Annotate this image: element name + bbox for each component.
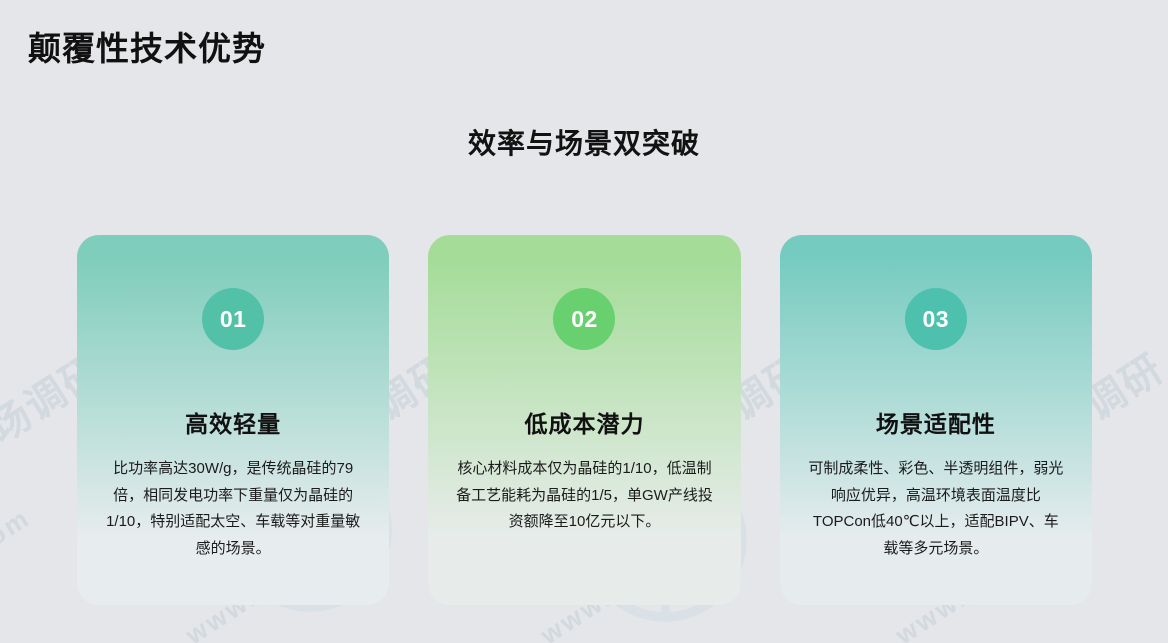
card-title: 低成本潜力: [524, 405, 644, 439]
card-title: 高效轻量: [185, 405, 281, 439]
feature-card[interactable]: 01 高效轻量 比功率高达30W/g，是传统晶硅的79倍，相同发电功率下重量仅为…: [77, 235, 389, 605]
card-description: 核心材料成本仅为晶硅的1/10，低温制备工艺能耗为晶硅的1/5，单GW产线投资额…: [428, 456, 740, 536]
card-number-badge: 02: [553, 288, 615, 350]
card-description: 比功率高达30W/g，是传统晶硅的79倍，相同发电功率下重量仅为晶硅的1/10，…: [77, 456, 389, 563]
watermark-text-url: www.yjbzr.com: [0, 502, 36, 643]
section-subtitle: 效率与场景双突破: [0, 122, 1168, 162]
feature-card[interactable]: 02 低成本潜力 核心材料成本仅为晶硅的1/10，低温制备工艺能耗为晶硅的1/5…: [428, 235, 740, 605]
card-description: 可制成柔性、彩色、半透明组件，弱光响应优异，高温环境表面温度比TOPCon低40…: [780, 456, 1092, 563]
feature-card-list: 01 高效轻量 比功率高达30W/g，是传统晶硅的79倍，相同发电功率下重量仅为…: [77, 235, 1092, 605]
card-title: 场景适配性: [876, 405, 996, 439]
card-number-badge: 01: [202, 288, 264, 350]
feature-card[interactable]: 03 场景适配性 可制成柔性、彩色、半透明组件，弱光响应优异，高温环境表面温度比…: [780, 235, 1092, 605]
page-title: 颠覆性技术优势: [28, 22, 266, 70]
card-number-badge: 03: [905, 288, 967, 350]
